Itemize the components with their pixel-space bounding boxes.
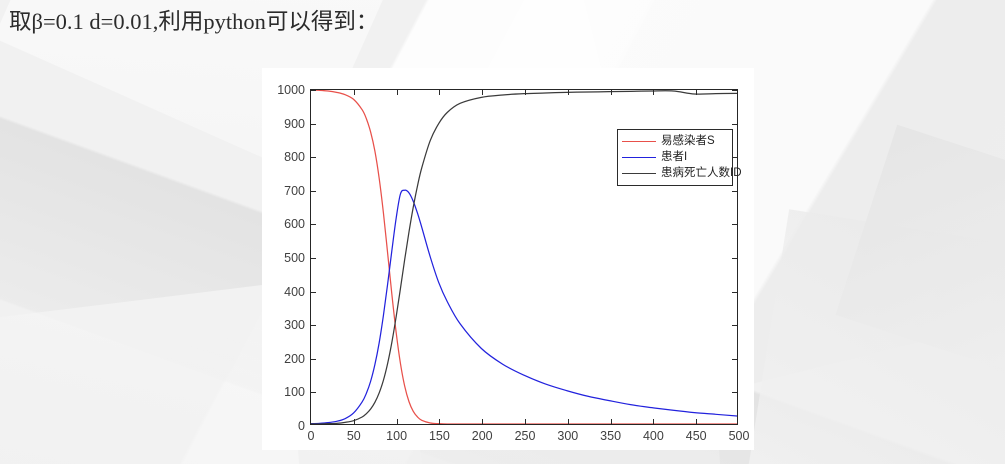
x-tick-mark [482, 419, 483, 424]
background-facet-h [835, 125, 1005, 396]
x-tick-label: 100 [386, 429, 407, 443]
y-tick-label: 200 [284, 352, 305, 366]
y-tick-label: 300 [284, 318, 305, 332]
x-tick-mark [439, 419, 440, 424]
y-tick-mark-right [732, 90, 737, 91]
y-tick-mark [311, 191, 316, 192]
y-tick-label: 400 [284, 285, 305, 299]
y-tick-mark-right [732, 359, 737, 360]
x-tick-mark-top [482, 90, 483, 95]
chart-legend: 易感染者S患者I患病死亡人数ID [617, 129, 733, 186]
x-tick-mark [653, 419, 654, 424]
x-tick-mark [354, 419, 355, 424]
y-tick-mark-right [732, 224, 737, 225]
x-tick-label: 50 [347, 429, 361, 443]
x-tick-label: 500 [729, 429, 750, 443]
x-tick-mark-top [696, 90, 697, 95]
y-tick-label: 700 [284, 184, 305, 198]
y-tick-label: 500 [284, 251, 305, 265]
x-tick-mark [568, 419, 569, 424]
x-tick-mark [696, 419, 697, 424]
x-tick-mark-top [653, 90, 654, 95]
y-tick-label: 100 [284, 385, 305, 399]
x-tick-mark-top [611, 90, 612, 95]
y-tick-mark-right [732, 392, 737, 393]
y-tick-mark-right [732, 325, 737, 326]
x-tick-label: 400 [643, 429, 664, 443]
y-tick-mark-right [732, 191, 737, 192]
x-tick-label: 200 [472, 429, 493, 443]
y-tick-label: 800 [284, 150, 305, 164]
legend-item-label: 患病死亡人数ID [661, 167, 742, 180]
x-tick-label: 250 [515, 429, 536, 443]
y-tick-mark-right [732, 292, 737, 293]
x-tick-label: 350 [600, 429, 621, 443]
x-tick-mark-top [525, 90, 526, 95]
legend-item: 患者I [622, 149, 728, 165]
y-tick-mark [311, 392, 316, 393]
x-tick-label: 450 [686, 429, 707, 443]
series-line-2 [311, 190, 737, 423]
y-tick-label: 0 [298, 419, 305, 433]
x-tick-mark [611, 419, 612, 424]
legend-color-swatch [622, 173, 656, 174]
y-tick-mark [311, 258, 316, 259]
y-tick-mark-right [732, 124, 737, 125]
legend-item-label: 患者I [661, 151, 687, 164]
y-tick-mark [311, 124, 316, 125]
x-tick-mark-top [439, 90, 440, 95]
y-tick-label: 600 [284, 217, 305, 231]
background-facet-d [736, 209, 1005, 464]
y-tick-mark [311, 292, 316, 293]
legend-item: 易感染者S [622, 133, 728, 149]
legend-color-swatch [622, 157, 656, 158]
y-tick-mark [311, 224, 316, 225]
x-tick-mark [525, 419, 526, 424]
x-tick-label: 150 [429, 429, 450, 443]
legend-item: 患病死亡人数ID [622, 165, 728, 181]
y-tick-mark-right [732, 258, 737, 259]
y-tick-label: 1000 [277, 83, 305, 97]
y-tick-mark [311, 157, 316, 158]
x-tick-label: 0 [308, 429, 315, 443]
x-tick-label: 300 [557, 429, 578, 443]
legend-color-swatch [622, 141, 656, 142]
x-tick-mark-top [397, 90, 398, 95]
x-tick-mark-top [354, 90, 355, 95]
x-tick-mark [397, 419, 398, 424]
legend-item-label: 易感染者S [661, 135, 715, 148]
slide-canvas: 取β=0.1 d=0.01,利用python可以得到： 010020030040… [0, 0, 1005, 464]
figure-panel: 01002003004005006007008009001000 0501001… [262, 68, 754, 450]
y-tick-mark [311, 359, 316, 360]
y-tick-mark [311, 90, 316, 91]
y-tick-label: 900 [284, 117, 305, 131]
slide-heading: 取β=0.1 d=0.01,利用python可以得到： [9, 7, 378, 37]
plot-axes: 01002003004005006007008009001000 0501001… [310, 89, 738, 425]
y-tick-mark [311, 325, 316, 326]
x-tick-mark-top [568, 90, 569, 95]
